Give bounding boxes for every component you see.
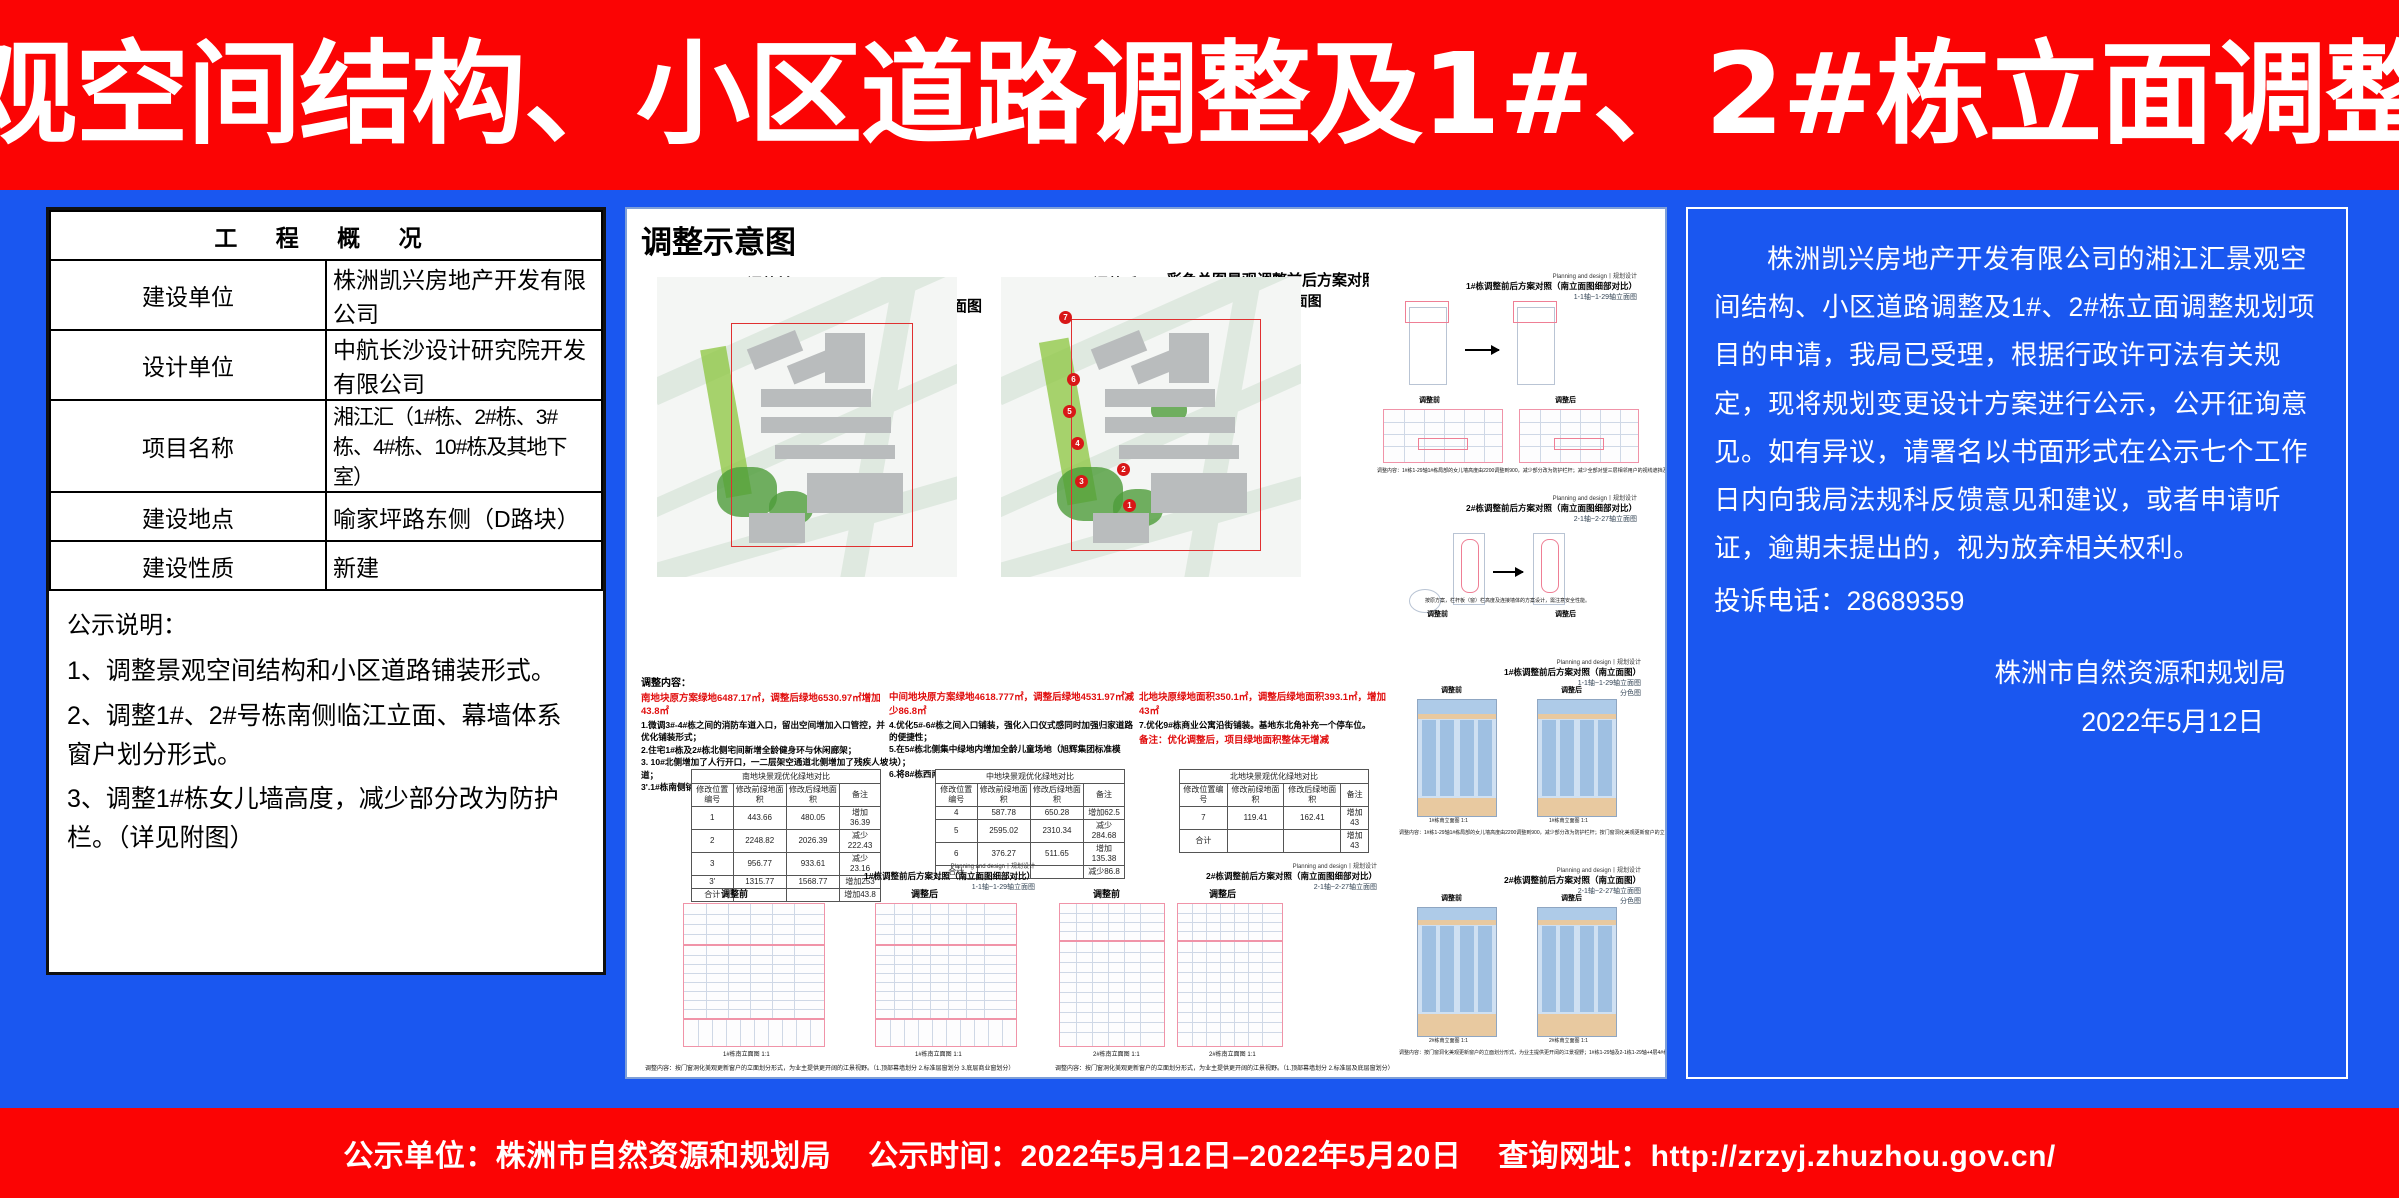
notice-item-2: 2、调整1#、2#号栋南侧临江立面、幕墙体系窗户划分形式。 [67,697,585,775]
title-banner: 湘江汇景观空间结构、小区道路调整及1#、2#栋立面调整规划公示 [0,0,2399,190]
project-overview-panel: 工 程 概 况 建设单位 株洲凯兴房地产开发有限公司 设计单位 中航长沙设计研究… [46,207,606,975]
annotation-north-remark: 备注：优化调整后，项目绿地面积整体无增减 [1139,734,1389,748]
table-header-row: 修改位置编号 修改前绿地面积 修改后绿地面积 备注 [692,784,881,807]
footer-unit: 公示单位：株洲市自然资源和规划局 [343,1140,831,1173]
plan-marker-4: 4 [1071,437,1084,450]
info-key-nature: 建设性质 [50,541,326,590]
elevation-block-3-color: Planning and design丨规划设计 1#栋调整前后方案对照（南立面… [1395,657,1645,857]
elevation-2-eyebrow: Planning and design丨规划设计 [1206,861,1377,870]
cell: 2 [692,830,734,853]
elevation-1-after-base [875,1019,1017,1047]
table-row: 合计 增加43 [1180,830,1369,853]
notice-item-1: 1、调整景观空间结构和小区道路铺装形式。 [67,652,585,691]
col-id: 修改位置编号 [692,784,734,807]
annotation-middle-item-1: 4.优化5#-6#栋之间入口铺装，强化入口仪式感同时加强归家道路的便捷性； [889,719,1139,744]
elevation-2-caption-before: 2#栋南立面图 1:1 [1093,1049,1140,1058]
annotation-north-red: 北地块原绿地面积350.1㎡，调整后绿地面积393.1㎡，增加43㎡ [1139,691,1389,719]
cell: 2248.82 [733,830,786,853]
elevation-3-caption-before: 1#栋南立面图 1:1 [1429,817,1468,824]
footer-website[interactable]: 查询网址：http://zrzyj.zhuzhou.gov.cn/ [1498,1140,2056,1173]
info-key-design-unit: 设计单位 [50,330,326,400]
annotation-south-item-1: 1.微调3#-4#栋之间的消防车道入口，留出空间增加入口管控，并优化铺装形式； [641,719,891,744]
col-before: 修改前绿地面积 [1227,784,1284,807]
greenspace-table-middle-caption: 中地块景观优化绿地对比 [935,769,1125,783]
info-key-location: 建设地点 [50,492,326,541]
elevation-4-caption-before: 2#栋南立面图 1:1 [1429,1037,1468,1044]
cell: 7 [1180,807,1228,830]
plan-marker-1: 1 [1123,499,1136,512]
annotation-middle: 中间地块原方案绿地4618.777㎡，调整后绿地4531.97㎡减少86.8㎡ … [889,691,1139,781]
cell: 1 [692,807,734,830]
elevation-4-after-label: 调整后 [1561,893,1582,903]
plan-marker-7: 7 [1059,311,1072,324]
cell: 减少222.43 [840,830,881,853]
annotation-middle-red: 中间地块原方案绿地4618.777㎡，调整后绿地4531.97㎡减少86.8㎡ [889,691,1139,719]
info-value-nature: 新建 [326,541,602,590]
site-plan-comparison: 调整前 株洲·湘江汇总平面图 N 1:1000 [627,267,1667,657]
info-key-project-name: 项目名称 [50,400,326,492]
table-row: 建设单位 株洲凯兴房地产开发有限公司 [50,260,602,330]
plan-marker-6: 6 [1067,373,1080,386]
cell: 480.05 [786,807,839,830]
detail-2-note: 按原方案，栏杆板（窗）栏高度及连接墙体的方案设计，需注意安全性能。 [1425,597,1590,604]
elevation-3-before-label: 调整前 [1441,685,1462,695]
cell: 587.78 [977,807,1030,820]
elevation-3-caption-after: 1#栋南立面图 1:1 [1549,817,1588,824]
notice-paragraph: 株洲凯兴房地产开发有限公司的湘江汇景观空间结构、小区道路调整及1#、2#栋立面调… [1714,235,2320,573]
elevation-1-before-top [683,903,825,945]
elevation-3-after-label: 调整后 [1561,685,1582,695]
plan-marker-3: 3 [1075,475,1088,488]
detail-compare-1-facades: 调整前 调整后 调整内容：1#栋1-29轴1#栋局部的女儿墙高度由2200调整到… [1369,395,1641,481]
elevation-1-header: Planning and design丨规划设计 1#栋调整前后方案对照（南立面… [864,861,1035,892]
elevation-1-caption-before: 1#栋南立面图 1:1 [723,1049,770,1058]
col-before: 修改前绿地面积 [977,784,1030,807]
annotation-south-red: 南地块原方案绿地6487.17㎡，调整后绿地6530.97㎡增加43.8㎡ [641,692,891,720]
col-remark: 备注 [1084,784,1125,807]
cell: 减少284.68 [1084,820,1125,843]
table-row: 2 2248.82 2026.39 减少222.43 [692,830,881,853]
elevation-1-caption-after: 1#栋南立面图 1:1 [915,1049,962,1058]
col-remark: 备注 [1341,784,1369,807]
table-row: 建设地点 喻家坪路东侧（D路块） [50,492,602,541]
col-after: 修改后绿地面积 [1030,784,1083,807]
cell: 增加62.5 [1084,807,1125,820]
detail-2-header: Planning and design丨规划设计 2#栋调整前后方案对照（南立面… [1466,493,1637,524]
project-overview-heading: 工 程 概 况 [50,211,602,260]
col-before: 修改前绿地面积 [733,784,786,807]
site-plan-before-graphic [657,277,957,577]
table-row: 7 119.41 162.41 增加43 [1180,807,1369,830]
issue-date: 2022年5月12日 [1714,700,2320,739]
elevation-1-subtitle: 1-1轴~1-29轴立面图 [864,882,1035,892]
detail-1-note: 调整内容：1#栋1-29轴1#栋局部的女儿墙高度由2200调整到900，减少部分… [1377,467,1667,474]
cell: 650.28 [1030,807,1083,820]
detail-compare-2: Planning and design丨规划设计 2#栋调整前后方案对照（南立面… [1369,493,1641,619]
cell: 增加36.39 [840,807,881,830]
annotation-south-item-2: 2.住宅1#栋及2#栋北侧宅间新增全龄健身环与休闲廊架； [641,744,891,756]
project-info-table: 工 程 概 况 建设单位 株洲凯兴房地产开发有限公司 设计单位 中航长沙设计研究… [49,210,603,591]
col-after: 修改后绿地面积 [786,784,839,807]
elevation-2-after-label: 调整后 [1209,887,1236,900]
cell: 增加43 [1341,807,1369,830]
elevation-1-after-top [875,903,1017,945]
cell: 2595.02 [977,820,1030,843]
cell: 5 [936,820,978,843]
greenspace-table-north: 北地块景观优化绿地对比 修改位置编号 修改前绿地面积 修改后绿地面积 备注 7 … [1179,769,1369,853]
elevation-1-after-label: 调整后 [911,887,938,900]
info-key-construction-unit: 建设单位 [50,260,326,330]
table-header-row: 修改位置编号 修改前绿地面积 修改后绿地面积 备注 [936,784,1125,807]
detail-compare-1: Planning and design丨规划设计 1#栋调整前后方案对照（南立面… [1369,271,1641,391]
table-row: 建设性质 新建 [50,541,602,590]
elevation-2-before-label: 调整前 [1093,887,1120,900]
elevation-block-1: Planning and design丨规划设计 1#栋调整前后方案对照（南立面… [637,861,1045,1077]
elevation-1-before-base [683,1019,825,1047]
elevation-3-note: 调整内容：1#栋1-29轴1#栋局部的女儿墙高度由2200调整到900，减少部分… [1399,829,1667,836]
table-row: 5 2595.02 2310.34 减少284.68 [936,820,1125,843]
cell: 增加43 [1341,830,1369,853]
detail-1-after-label: 调整后 [1555,395,1576,405]
detail-2-eyebrow: Planning and design丨规划设计 [1466,493,1637,502]
elevation-4-tower-before [1417,907,1497,1037]
elevation-1-after-mid [875,945,1017,1019]
info-value-project-name: 湘江汇（1#栋、2#栋、3#栋、4#栋、10#栋及其地下室） [326,400,602,492]
table-row: 工 程 概 况 [50,211,602,260]
elevation-1-title: 1#栋调整前后方案对照（南立面图细部对比） [864,870,1035,882]
elevation-block-4-color: Planning and design丨规划设计 2#栋调整前后方案对照（南立面… [1395,865,1645,1075]
elevation-3-title: 1#栋调整前后方案对照（南立面图） [1504,666,1641,678]
drawing-panel-title: 调整示意图 [641,217,796,262]
info-value-construction-unit: 株洲凯兴房地产开发有限公司 [326,260,602,330]
elevation-4-title: 2#栋调整前后方案对照（南立面图） [1504,874,1641,886]
plan-marker-5: 5 [1063,405,1076,418]
detail-1-header: Planning and design丨规划设计 1#栋调整前后方案对照（南立面… [1466,271,1637,302]
elevation-4-tower-after [1537,907,1617,1037]
detail-1-eyebrow: Planning and design丨规划设计 [1466,271,1637,280]
col-remark: 备注 [840,784,881,807]
elevation-2-title: 2#栋调整前后方案对照（南立面图细部对比） [1206,870,1377,882]
issuing-authority: 株洲市自然资源和规划局 [1714,651,2320,690]
elevation-1-before-mid [683,945,825,1019]
elevation-2-note: 调整内容：按门窗洞化美观更新窗户的立面划分形式，为业主提供更开阔的江景视野。（1… [1055,1063,1394,1072]
notice-title: 公示说明： [67,605,585,640]
elevation-3-tower-before [1417,699,1497,817]
cell: 162.41 [1284,807,1341,830]
detail-1-before-label: 调整前 [1419,395,1440,405]
info-value-design-unit: 中航长沙设计研究院开发有限公司 [326,330,602,400]
table-row: 1 443.66 480.05 增加36.39 [692,807,881,830]
footer-bar: 公示单位：株洲市自然资源和规划局 公示时间：2022年5月12日–2022年5月… [0,1108,2399,1198]
annotation-north-item-1: 7.优化9#栋商业公寓沿街铺装。基地东北角补充一个停车位。 [1139,719,1389,731]
detail-2-subtitle: 2-1轴~2-27轴立面图 [1466,514,1637,524]
complaint-phone: 投诉电话：28689359 [1714,577,2320,625]
cell: 2310.34 [1030,820,1083,843]
page-title: 湘江汇景观空间结构、小区道路调整及1#、2#栋立面调整规划公示 [0,39,2399,151]
cell: 合计 [1180,830,1228,853]
elevation-1-eyebrow: Planning and design丨规划设计 [864,861,1035,870]
elevation-1-before-label: 调整前 [721,887,748,900]
elevation-2-before-body [1059,941,1165,1047]
col-after: 修改后绿地面积 [1284,784,1341,807]
footer-content: 公示单位：株洲市自然资源和规划局 公示时间：2022年5月12日–2022年5月… [329,1131,2070,1175]
table-row: 4 587.78 650.28 增加62.5 [936,807,1125,820]
detail-1-title: 1#栋调整前后方案对照（南立面图细部对比） [1466,280,1637,292]
cell: 443.66 [733,807,786,830]
cell [1227,830,1284,853]
annotation-title: 调整内容： [641,677,891,692]
notice-description-block: 公示说明： 1、调整景观空间结构和小区道路铺装形式。 2、调整1#、2#号栋南侧… [49,591,603,858]
cell: 4 [936,807,978,820]
site-plan-after-graphic: 7 6 5 4 3 2 1 [1001,277,1301,577]
footer-period: 公示时间：2022年5月12日–2022年5月20日 [868,1140,1461,1173]
greenspace-table-north-caption: 北地块景观优化绿地对比 [1179,769,1369,783]
elevation-2-caption-after: 2#栋南立面图 1:1 [1209,1049,1256,1058]
elevation-block-2: Planning and design丨规划设计 2#栋调整前后方案对照（南立面… [1047,861,1387,1077]
cell: 119.41 [1227,807,1284,830]
cell [1284,830,1341,853]
elevation-2-before-top [1059,903,1165,941]
detail-2-title: 2#栋调整前后方案对照（南立面图细部对比） [1466,502,1637,514]
elevation-3-tower-after [1537,699,1617,817]
content-stage: 工 程 概 况 建设单位 株洲凯兴房地产开发有限公司 设计单位 中航长沙设计研究… [0,190,2399,1098]
elevation-4-note: 调整内容：按门窗洞化美观更新窗户的立面划分形式，为业主提供更开阔的江景视野；1#… [1399,1049,1667,1056]
detail-2-after-label: 调整后 [1555,609,1576,619]
table-row: 项目名称 湘江汇（1#栋、2#栋、3#栋、4#栋、10#栋及其地下室） [50,400,602,492]
annotation-middle-item-2: 5.在5#栋北侧集中绿地内增加全龄儿童场地（旭辉集团标准模块）； [889,743,1139,768]
cell: 2026.39 [786,830,839,853]
info-value-location: 喻家坪路东侧（D路块） [326,492,602,541]
elevation-3-eyebrow: Planning and design丨规划设计 [1504,657,1641,666]
detail-2-before-label: 调整前 [1427,609,1448,619]
detail-1-facade-before [1383,409,1503,463]
notice-item-3: 3、调整1#栋女儿墙高度，减少部分改为防护栏。（详见附图） [67,780,585,858]
elevation-4-eyebrow: Planning and design丨规划设计 [1504,865,1641,874]
public-notice-panel: 株洲凯兴房地产开发有限公司的湘江汇景观空间结构、小区道路调整及1#、2#栋立面调… [1686,207,2348,1079]
elevation-4-before-label: 调整前 [1441,893,1462,903]
table-row: 设计单位 中航长沙设计研究院开发有限公司 [50,330,602,400]
table-header-row: 修改位置编号 修改前绿地面积 修改后绿地面积 备注 [1180,784,1369,807]
elevation-2-after-top [1177,903,1283,941]
col-id: 修改位置编号 [936,784,978,807]
greenspace-table-south-caption: 南地块景观优化绿地对比 [691,769,881,783]
annotation-north: 北地块原绿地面积350.1㎡，调整后绿地面积393.1㎡，增加43㎡ 7.优化9… [1139,691,1389,748]
plan-marker-2: 2 [1117,463,1130,476]
elevation-2-after-body [1177,941,1283,1047]
col-id: 修改位置编号 [1180,784,1228,807]
detail-1-facade-after [1519,409,1639,463]
elevation-4-caption-after: 2#栋南立面图 1:1 [1549,1037,1588,1044]
drawing-panel: 调整示意图 调整前 株洲·湘江汇总平面图 N 1:1000 [625,207,1667,1079]
elevation-1-note: 调整内容：按门窗洞化美观更新窗户的立面划分形式，为业主提供更开阔的江景视野。（1… [645,1063,1014,1072]
